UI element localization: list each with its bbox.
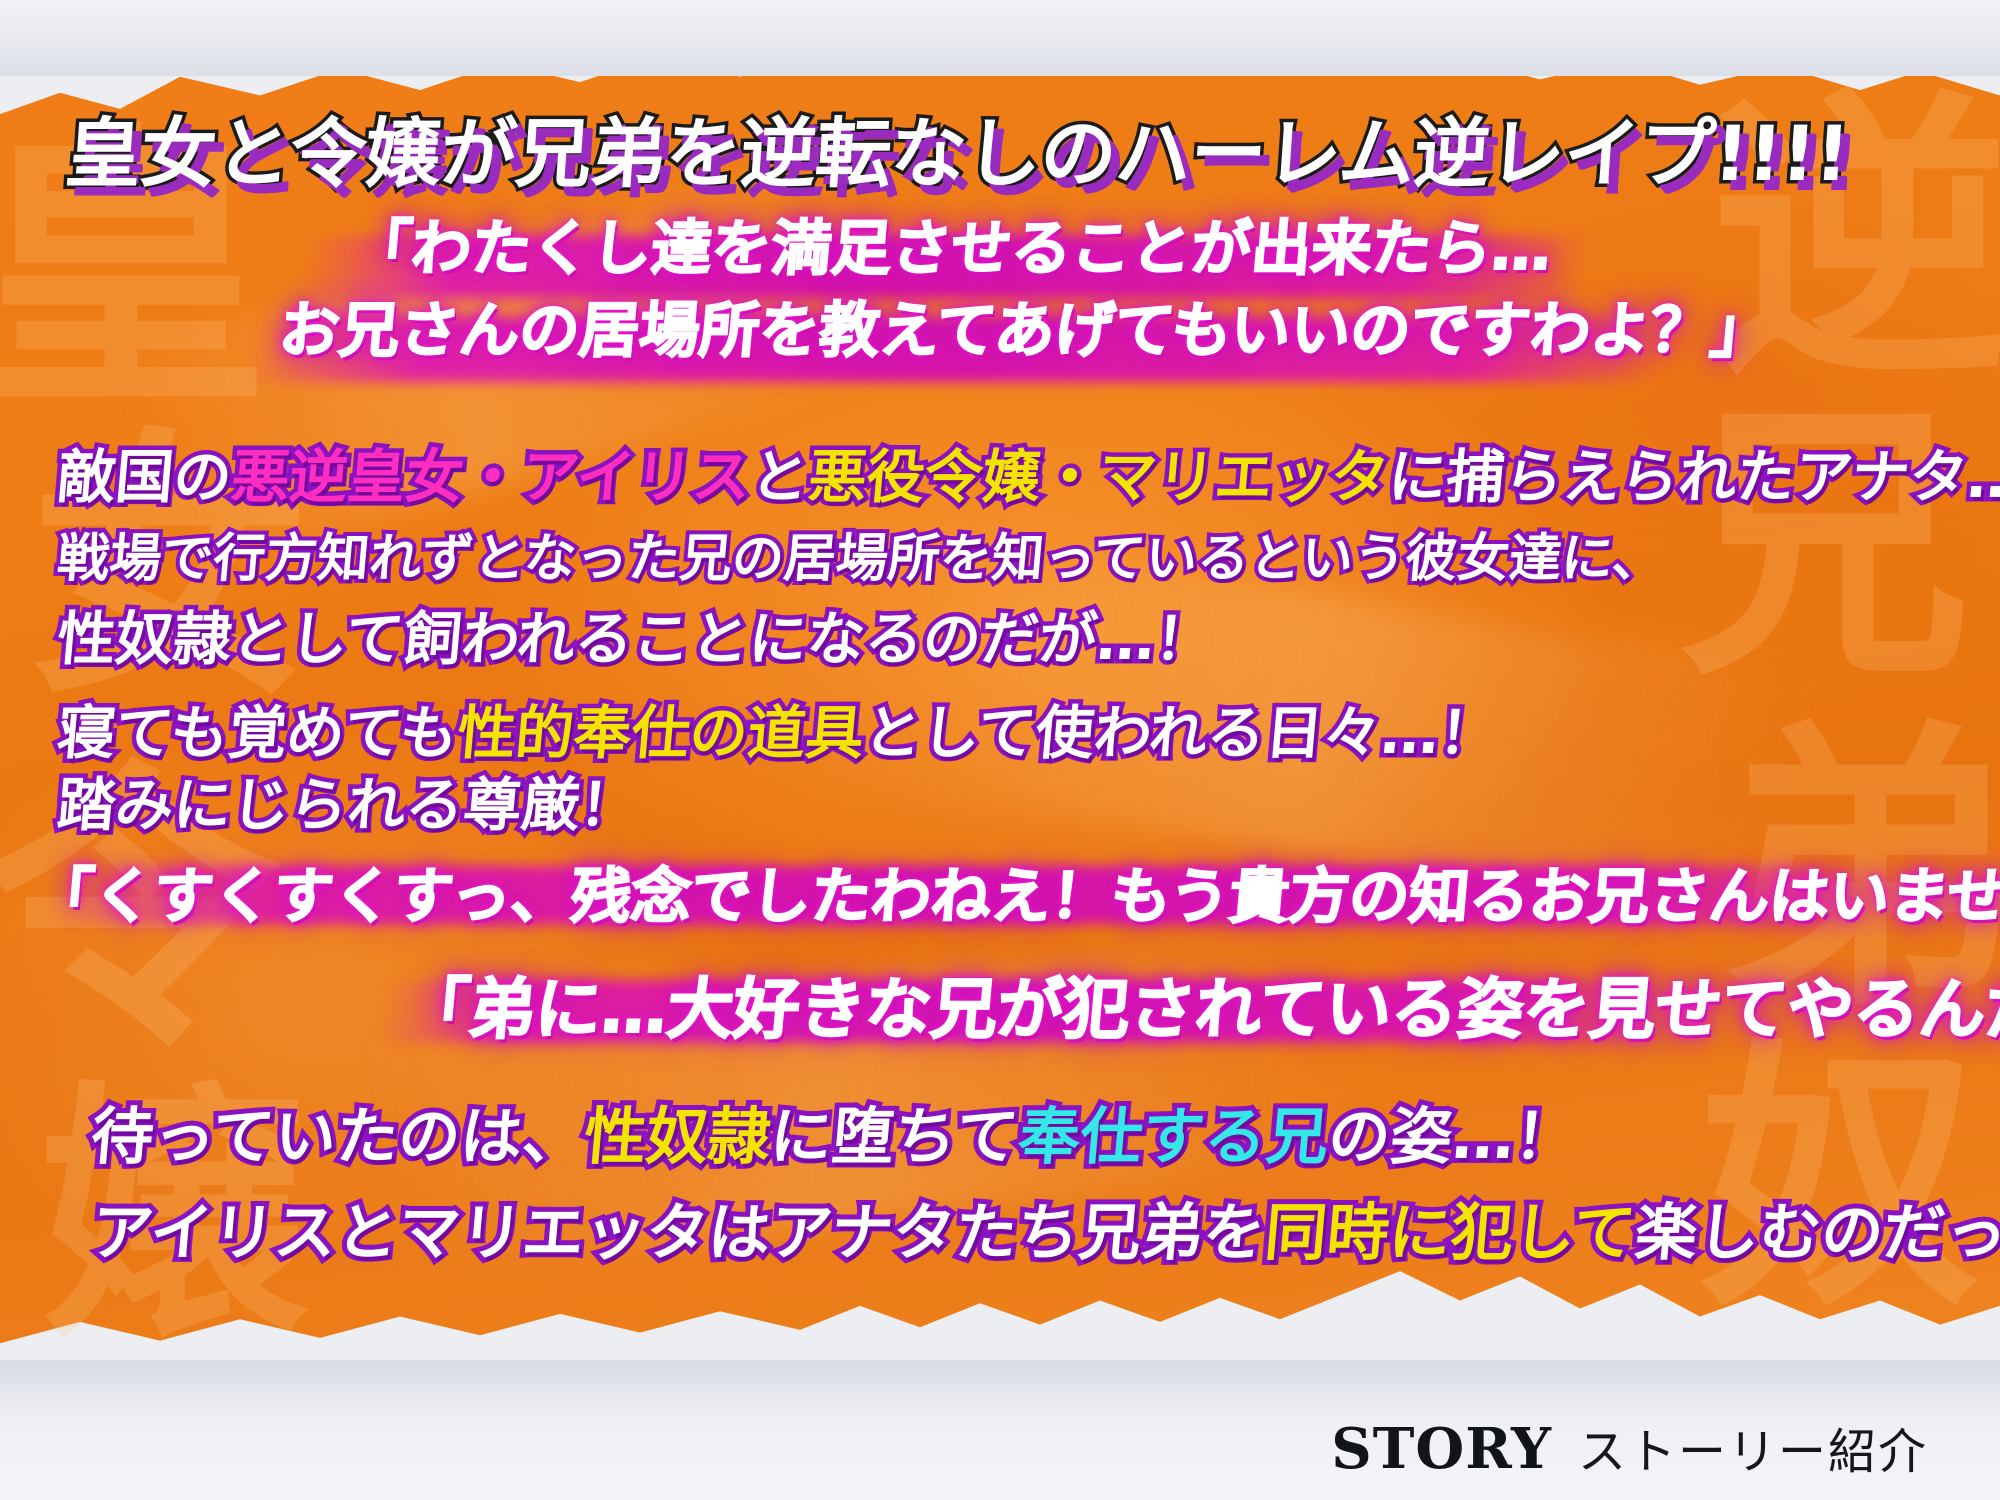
body-end-line-1-part-c: に堕ちて bbox=[767, 1100, 1021, 1173]
body-line-4-part-c: として使われる日々…！ bbox=[861, 699, 1500, 767]
body-end-line-1-part-d: 奉仕する兄 bbox=[1015, 1100, 1331, 1173]
mid-quote-line-1: 「くすくすくすっ、残念でしたわねえ！もう貴方の知るお兄さんはいませんわ！」 bbox=[30, 848, 2000, 935]
body-end-line-1-part-e: の姿…！ bbox=[1325, 1100, 1579, 1173]
body-line-1-part-c: と bbox=[748, 443, 812, 511]
body-line-4-part-b: 性的奉仕の道具 bbox=[455, 699, 867, 767]
body-end-line-1-part-a: 待っていたのは、 bbox=[88, 1100, 587, 1173]
footer-label-en: STORY bbox=[1331, 1416, 1552, 1482]
body-end-line-2-part-b: 同時に犯して bbox=[1262, 1196, 1639, 1269]
intro-quote-line-1: 「わたくし達を満足させることが出来たら… bbox=[348, 200, 1556, 287]
body-line-5-part-a: 踏みにじられる尊厳！ bbox=[55, 771, 641, 839]
body-end-line-2-part-c: 楽しむのだった…！ bbox=[1632, 1196, 2000, 1269]
body-end-line-1: 待っていたのは、性奴隷に堕ちて奉仕する兄の姿…！ bbox=[88, 1086, 1581, 1176]
body-line-1-part-a: 敵国の bbox=[55, 443, 235, 511]
body-line-1-part-d: 悪役令嬢・マリエッタ bbox=[806, 443, 1392, 511]
body-line-2: 戦場で行方知れずとなった兄の居場所を知っているという彼女達に、 bbox=[55, 516, 1668, 591]
body-end-line-2-part-a: アイリスとマリエッタはアナタたち兄弟を bbox=[88, 1196, 1268, 1269]
body-line-3-part-b: として bbox=[229, 605, 407, 673]
body-line-4-part-a: 寝ても覚めても bbox=[55, 699, 461, 767]
footer-label-ja: ストーリー紹介 bbox=[1578, 1412, 1928, 1482]
body-line-5: 踏みにじられる尊厳！ bbox=[54, 758, 641, 842]
story-banner: 皇 女 令 嬢 逆 兄 弟 奴 皇女と令嬢が兄弟を逆転なしのハーレム逆レイプ!!… bbox=[0, 0, 2000, 1500]
mid-quote-line-2: 「弟に…大好きな兄が犯されている姿を見せてやるんだ」 bbox=[400, 956, 2000, 1052]
body-line-3-part-a: 性奴隷 bbox=[55, 605, 235, 673]
body-line-1-part-b: 悪逆皇女・アイリス bbox=[229, 443, 754, 511]
body-line-3-part-c: 飼われる bbox=[401, 605, 636, 673]
intro-quote-line-2: お兄さんの居場所を教えてあげてもいいのですわよ？」 bbox=[276, 282, 1775, 369]
body-line-1-part-e: に捕らえられたアナタ…！ bbox=[1386, 443, 2000, 511]
story-footer: STORY ストーリー紹介 bbox=[1331, 1412, 1928, 1482]
page-title: 皇女と令嬢が兄弟を逆転なしのハーレム逆レイプ!!!! bbox=[62, 92, 1853, 202]
body-line-2-part-a: 戦場で行方知れずとなった兄の居場所を知っているという彼女達に、 bbox=[55, 529, 1667, 589]
body-line-1: 敵国の悪逆皇女・アイリスと悪役令嬢・マリエッタに捕らえられたアナタ…！ bbox=[54, 430, 2000, 514]
body-line-3: 性奴隷として飼われることになるのだが…！ bbox=[54, 592, 1217, 676]
body-end-line-1-part-b: 性奴隷 bbox=[581, 1100, 773, 1173]
body-line-3-part-d: ことになるのだが…！ bbox=[630, 605, 1216, 673]
body-end-line-2: アイリスとマリエッタはアナタたち兄弟を同時に犯して楽しむのだった…！ bbox=[88, 1182, 2000, 1272]
